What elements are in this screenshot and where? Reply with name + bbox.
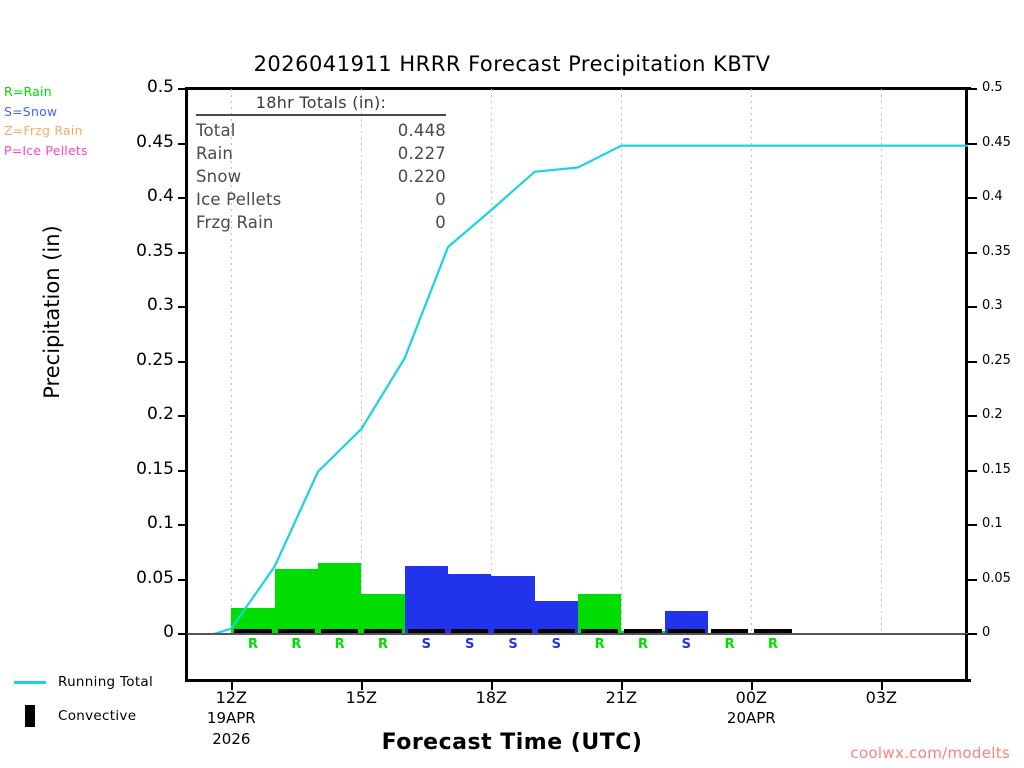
totals-row-value: 0: [435, 211, 446, 234]
y-tick-label-right: 0.3: [982, 298, 1003, 313]
totals-row-value: 0.220: [398, 165, 446, 188]
totals-title: 18hr Totals (in):: [196, 93, 446, 112]
y-tick-left: [178, 252, 187, 254]
legend-swatch-running-total: [14, 681, 46, 684]
y-tick-label-right: 0.2: [982, 407, 1003, 422]
x-tick-label: 00Z: [701, 688, 801, 707]
x-tick-date-line1: 20APR: [701, 709, 801, 727]
y-tick-right: [968, 579, 977, 581]
y-tick-label-left: 0.2: [90, 404, 174, 424]
precip-type-legend-item-s: S=Snow: [4, 102, 144, 122]
y-tick-right: [968, 361, 977, 363]
y-tick-label-left: 0: [90, 622, 174, 642]
precip-type-letter: R: [320, 637, 360, 652]
y-tick-label-left: 0.45: [90, 132, 174, 152]
y-tick-right: [968, 197, 977, 199]
legend-item-running-total: Running Total: [14, 665, 189, 699]
precip-type-letter: S: [406, 637, 446, 652]
watermark: coolwx.com/modelts: [0, 744, 1010, 762]
totals-row-label: Rain: [196, 142, 233, 165]
y-tick-left: [178, 524, 187, 526]
y-tick-right: [968, 633, 977, 635]
y-tick-right: [968, 143, 977, 145]
y-tick-label-right: 0.35: [982, 244, 1011, 259]
x-tick-date-line1: 19APR: [181, 709, 281, 727]
x-tick-label: 03Z: [831, 688, 931, 707]
legend-label-convective: Convective: [58, 708, 136, 724]
y-tick-left: [178, 415, 187, 417]
precip-type-letter: R: [233, 637, 273, 652]
totals-divider: [196, 114, 446, 116]
totals-row-label: Snow: [196, 165, 241, 188]
legend-label-running-total: Running Total: [58, 674, 153, 690]
totals-rows: Total0.448Rain0.227Snow0.220Ice Pellets0…: [196, 119, 446, 234]
y-tick-right: [968, 415, 977, 417]
legend-swatch-convective: [25, 705, 35, 727]
totals-row: Frzg Rain0: [196, 211, 446, 234]
y-tick-label-left: 0.3: [90, 295, 174, 315]
y-tick-label-right: 0.45: [982, 135, 1011, 150]
totals-row-label: Ice Pellets: [196, 188, 281, 211]
legend-item-convective: Convective: [14, 699, 189, 733]
y-tick-label-left: 0.15: [90, 459, 174, 479]
precip-type-letter: R: [753, 637, 793, 652]
y-tick-label-right: 0.25: [982, 353, 1011, 368]
x-tick-label: 18Z: [441, 688, 541, 707]
y-tick-left: [178, 88, 187, 90]
y-axis-title: Precipitation (in): [40, 182, 64, 442]
totals-row-value: 0: [435, 188, 446, 211]
y-tick-label-right: 0.05: [982, 571, 1011, 586]
totals-row-label: Frzg Rain: [196, 211, 274, 234]
precip-type-letter: R: [363, 637, 403, 652]
precip-type-letter: S: [450, 637, 490, 652]
y-tick-label-right: 0.5: [982, 80, 1003, 95]
totals-row-value: 0.227: [398, 142, 446, 165]
precip-type-letter: R: [580, 637, 620, 652]
y-tick-left: [178, 361, 187, 363]
y-tick-left: [178, 633, 187, 635]
y-tick-left: [178, 579, 187, 581]
x-tick-label: 15Z: [311, 688, 411, 707]
x-tick-label: 21Z: [571, 688, 671, 707]
totals-row: Total0.448: [196, 119, 446, 142]
precip-type-letter: S: [536, 637, 576, 652]
y-tick-label-left: 0.5: [90, 77, 174, 97]
y-tick-right: [968, 88, 977, 90]
y-tick-label-right: 0: [982, 625, 990, 640]
series-legend: Running TotalConvective: [14, 665, 189, 733]
y-tick-label-right: 0.1: [982, 516, 1003, 531]
y-tick-label-left: 0.35: [90, 241, 174, 261]
y-tick-left: [178, 143, 187, 145]
y-tick-left: [178, 197, 187, 199]
totals-row-label: Total: [196, 119, 236, 142]
page-title: 2026041911 HRRR Forecast Precipitation K…: [0, 52, 1024, 76]
y-tick-left: [178, 470, 187, 472]
y-tick-label-left: 0.4: [90, 186, 174, 206]
y-tick-left: [178, 306, 187, 308]
totals-row-value: 0.448: [398, 119, 446, 142]
y-tick-label-right: 0.4: [982, 189, 1003, 204]
y-tick-right: [968, 252, 977, 254]
precip-type-letter: S: [493, 637, 533, 652]
y-tick-right: [968, 524, 977, 526]
precip-type-letter: R: [710, 637, 750, 652]
precip-type-letter: R: [623, 637, 663, 652]
x-tick-label: 12Z: [181, 688, 281, 707]
precip-type-letter: S: [666, 637, 706, 652]
totals-row: Ice Pellets0: [196, 188, 446, 211]
y-tick-right: [968, 470, 977, 472]
y-tick-label-left: 0.1: [90, 513, 174, 533]
precip-type-letter: R: [276, 637, 316, 652]
y-tick-right: [968, 306, 977, 308]
plot-bottom-border: [185, 679, 971, 682]
totals-row: Rain0.227: [196, 142, 446, 165]
y-tick-label-left: 0.25: [90, 350, 174, 370]
totals-box: 18hr Totals (in): Total0.448Rain0.227Sno…: [196, 93, 446, 234]
y-tick-label-left: 0.05: [90, 568, 174, 588]
y-tick-label-right: 0.15: [982, 462, 1011, 477]
totals-row: Snow0.220: [196, 165, 446, 188]
